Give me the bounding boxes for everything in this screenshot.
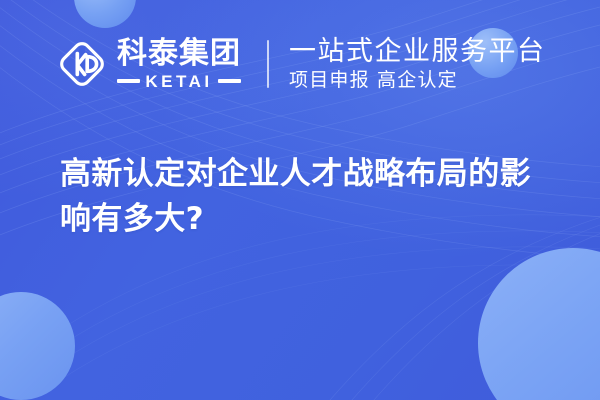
page-title: 高新认定对企业人才战略布局的影响有多大? — [60, 152, 560, 241]
brand-bar: 科泰集团 KETAI 一站式企业服务平台 项目申报 高企认定 — [0, 0, 600, 128]
slogan-block: 一站式企业服务平台 项目申报 高企认定 — [289, 37, 546, 90]
logo-wordmark: 科泰集团 KETAI — [117, 39, 241, 90]
slogan-sub: 项目申报 高企认定 — [289, 70, 546, 91]
logo-en-row: KETAI — [117, 73, 241, 90]
company-logo[interactable]: 科泰集团 KETAI — [56, 38, 241, 90]
ketai-diamond-monogram-icon — [56, 38, 108, 90]
brand-divider — [267, 40, 269, 88]
logo-rule-left — [117, 79, 140, 83]
logo-rule-right — [218, 79, 241, 83]
promo-banner: 科泰集团 KETAI 一站式企业服务平台 项目申报 高企认定 高新认定对企业人才… — [0, 0, 600, 400]
logo-name-cn: 科泰集团 — [117, 39, 241, 70]
logo-name-en: KETAI — [145, 73, 212, 90]
slogan-main: 一站式企业服务平台 — [289, 37, 546, 66]
